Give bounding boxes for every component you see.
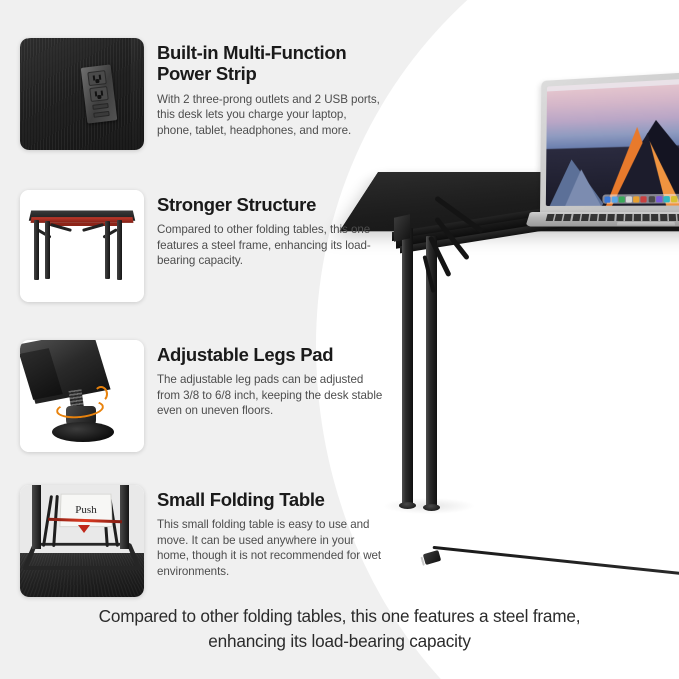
bottom-caption: Compared to other folding tables, this o… bbox=[0, 604, 679, 653]
feature-description: This small folding table is easy to use … bbox=[157, 517, 384, 579]
hero-product-photo bbox=[370, 40, 679, 600]
mountain-peak bbox=[565, 169, 601, 206]
laptop-screen bbox=[546, 75, 679, 206]
folding-post bbox=[32, 485, 41, 549]
laptop-base bbox=[525, 212, 679, 227]
feature-item-power-strip: Built-in Multi-Function Power Strip With… bbox=[0, 38, 390, 150]
rotation-arrow-icon bbox=[94, 386, 108, 402]
feature-title: Stronger Structure bbox=[157, 194, 384, 215]
folding-post bbox=[120, 485, 129, 549]
desk-corner-bracket bbox=[394, 214, 410, 241]
dock bbox=[602, 194, 679, 204]
adjustable-foot-pad bbox=[399, 502, 416, 509]
laptop bbox=[540, 80, 679, 242]
folding-strut bbox=[42, 495, 53, 547]
feature-title: Built-in Multi-Function Power Strip bbox=[157, 42, 384, 85]
laptop-lid bbox=[540, 68, 679, 214]
power-outlet bbox=[89, 86, 109, 102]
feature-description: Compared to other folding tables, this o… bbox=[157, 222, 384, 269]
feature-item-stronger-structure: Stronger Structure Compared to other fol… bbox=[0, 190, 390, 302]
feature-description: The adjustable leg pads can be adjusted … bbox=[157, 372, 384, 419]
feature-list: Built-in Multi-Function Power Strip With… bbox=[0, 0, 390, 600]
table-leg bbox=[34, 220, 39, 280]
laptop-keyboard bbox=[546, 214, 679, 221]
feature-item-adjustable-legs-pad: Adjustable Legs Pad The adjustable leg p… bbox=[0, 340, 390, 452]
caption-line-1: Compared to other folding tables, this o… bbox=[99, 606, 581, 626]
caption-line-2: enhancing its load-bearing capacity bbox=[208, 631, 470, 651]
usb-port bbox=[92, 103, 108, 110]
product-infographic: Built-in Multi-Function Power Strip With… bbox=[0, 0, 679, 679]
menu-bar bbox=[547, 75, 679, 92]
feature-title: Small Folding Table bbox=[157, 489, 384, 510]
desk-leg bbox=[402, 228, 413, 506]
laptop-trackpad bbox=[617, 222, 675, 225]
red-arrow-icon bbox=[78, 525, 90, 533]
power-strip-thumbnail bbox=[20, 38, 144, 150]
table-leg bbox=[117, 220, 122, 280]
adjustable-foot-pad bbox=[423, 504, 440, 511]
feature-item-small-folding-table: Push Small Folding Table This small fold… bbox=[0, 485, 390, 597]
steel-frame-thumbnail bbox=[20, 190, 144, 302]
push-label-text: Push bbox=[75, 504, 97, 516]
usb-port bbox=[93, 111, 109, 118]
table-leg bbox=[105, 221, 110, 279]
leg-pad-thumbnail bbox=[20, 340, 144, 452]
feature-title: Adjustable Legs Pad bbox=[157, 344, 384, 365]
leg-pad-base bbox=[52, 422, 114, 442]
feature-description: With 2 three-prong outlets and 2 USB por… bbox=[157, 92, 384, 139]
power-outlet bbox=[87, 70, 107, 86]
power-plug bbox=[423, 550, 441, 565]
table-leg bbox=[45, 221, 50, 279]
folding-mechanism-thumbnail: Push bbox=[20, 485, 144, 597]
black-desktop-surface bbox=[20, 38, 144, 150]
power-cord bbox=[433, 546, 679, 577]
